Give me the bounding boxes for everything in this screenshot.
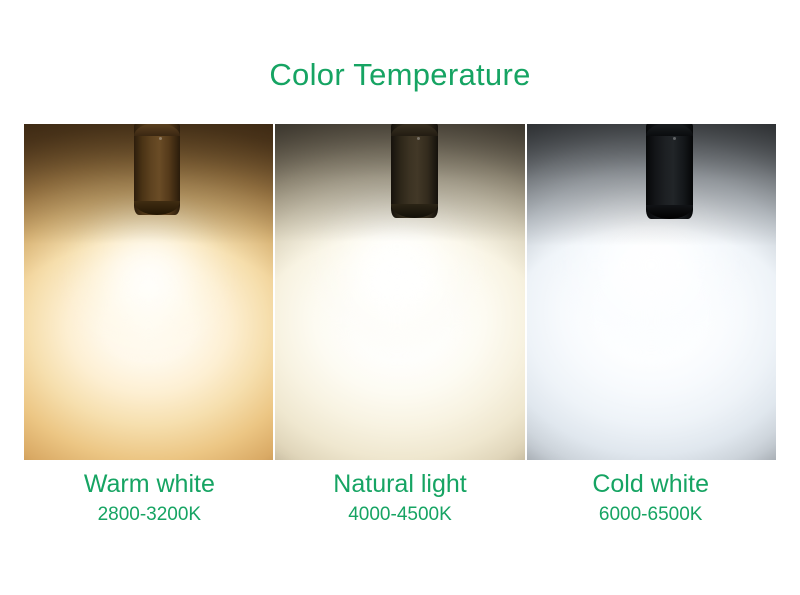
color-temperature-infographic: Color Temperature	[0, 0, 800, 595]
downlight-fixture-icon	[391, 124, 438, 218]
caption-name-warm-white: Warm white	[24, 468, 275, 500]
lighting-sample-cold-white	[527, 124, 776, 460]
fixture-highlight-speck	[673, 137, 676, 140]
caption-kelvin-warm-white: 2800-3200K	[24, 502, 275, 528]
caption-row: Warm white 2800-3200K Natural light 4000…	[24, 468, 776, 538]
caption-warm-white: Warm white 2800-3200K	[24, 468, 275, 538]
lighting-sample-gallery	[24, 124, 776, 460]
lighting-sample-warm-white	[24, 124, 273, 460]
fixture-top-rim	[134, 124, 180, 136]
caption-kelvin-cold-white: 6000-6500K	[525, 502, 776, 528]
downlight-fixture-icon	[134, 124, 180, 215]
caption-kelvin-natural-light: 4000-4500K	[275, 502, 526, 528]
page-title: Color Temperature	[0, 56, 800, 94]
caption-natural-light: Natural light 4000-4500K	[275, 468, 526, 538]
downlight-fixture-icon	[646, 124, 693, 219]
caption-name-cold-white: Cold white	[525, 468, 776, 500]
caption-cold-white: Cold white 6000-6500K	[525, 468, 776, 538]
lighting-sample-natural-light	[275, 124, 524, 460]
caption-name-natural-light: Natural light	[275, 468, 526, 500]
fixture-top-rim	[391, 124, 438, 136]
